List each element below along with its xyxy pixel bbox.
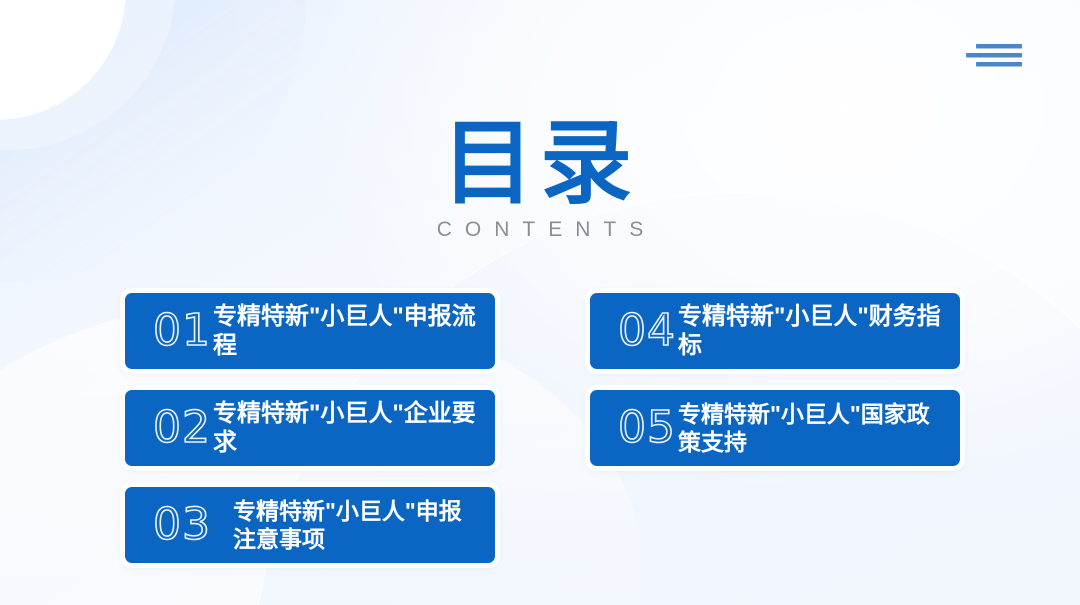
item-number-02: 02 bbox=[125, 406, 213, 450]
contents-item-01[interactable]: 01 专精特新"小巨人"申报流程 bbox=[125, 293, 495, 369]
contents-item-04[interactable]: 04 专精特新"小巨人"财务指标 bbox=[590, 293, 960, 369]
contents-list: 01 专精特新"小巨人"申报流程 02 专精特新"小巨人"企业要求 03 专精特… bbox=[125, 293, 960, 563]
item-number-05: 05 bbox=[590, 406, 678, 450]
page-title: 目录 bbox=[0, 118, 1080, 212]
item-number-01: 01 bbox=[125, 309, 213, 353]
hamburger-menu-icon[interactable] bbox=[966, 40, 1022, 68]
contents-item-05[interactable]: 05 专精特新"小巨人"国家政 策支持 bbox=[590, 390, 960, 466]
item-label-05: 专精特新"小巨人"国家政 策支持 bbox=[678, 400, 960, 456]
item-label-04: 专精特新"小巨人"财务指标 bbox=[678, 302, 960, 361]
hamburger-bar-middle bbox=[966, 53, 1022, 57]
item-label-02: 专精特新"小巨人"企业要求 bbox=[213, 399, 495, 458]
slide-canvas: 目录 CONTENTS 01 专精特新"小巨人"申报流程 02 专精特新"小巨人… bbox=[0, 0, 1080, 605]
page-title-block: 目录 CONTENTS bbox=[0, 118, 1080, 242]
contents-item-03[interactable]: 03 专精特新"小巨人"申报 注意事项 bbox=[125, 487, 495, 563]
contents-item-02[interactable]: 02 专精特新"小巨人"企业要求 bbox=[125, 390, 495, 466]
hamburger-bar-top bbox=[976, 44, 1022, 48]
hamburger-bar-bottom bbox=[976, 62, 1022, 66]
item-number-03: 03 bbox=[125, 503, 233, 547]
item-label-01: 专精特新"小巨人"申报流程 bbox=[213, 302, 495, 361]
item-number-04: 04 bbox=[590, 309, 678, 353]
page-subtitle: CONTENTS bbox=[0, 218, 1080, 242]
item-label-03: 专精特新"小巨人"申报 注意事项 bbox=[233, 497, 495, 553]
